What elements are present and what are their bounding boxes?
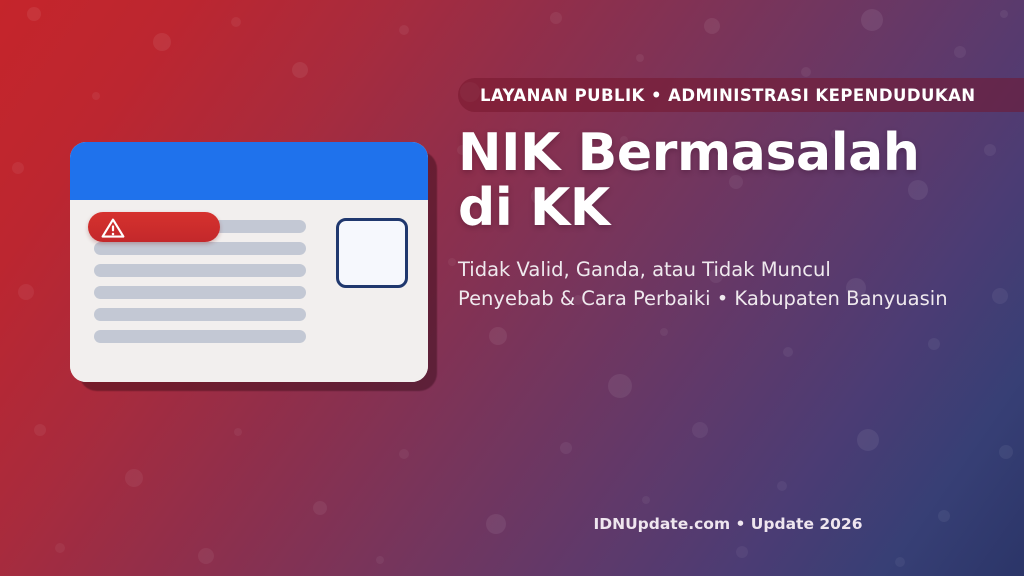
- background-dot: [954, 46, 966, 58]
- background-dot: [999, 445, 1013, 459]
- background-dot: [704, 18, 720, 34]
- eyebrow-badge: LAYANAN PUBLIK • ADMINISTRASI KEPENDUDUK…: [458, 78, 1024, 112]
- background-dot: [292, 62, 308, 78]
- subtitle: Tidak Valid, Ganda, atau Tidak Muncul Pe…: [458, 255, 1018, 313]
- banner-canvas: LAYANAN PUBLIK • ADMINISTRASI KEPENDUDUK…: [0, 0, 1024, 576]
- background-dot: [399, 449, 409, 459]
- background-dot: [448, 258, 456, 266]
- background-dot: [18, 284, 34, 300]
- background-dot: [777, 481, 787, 491]
- background-dot: [153, 33, 171, 51]
- background-dot: [55, 543, 65, 553]
- card-text-line: [94, 286, 306, 299]
- eyebrow-label: LAYANAN PUBLIK • ADMINISTRASI KEPENDUDUK…: [480, 86, 976, 105]
- photo-placeholder-box: [336, 218, 408, 288]
- headline-line-1: NIK Bermasalah: [458, 123, 919, 183]
- page-title: NIK Bermasalah di KK: [458, 126, 988, 236]
- background-dot: [560, 442, 572, 454]
- background-dot: [92, 92, 100, 100]
- background-dot: [231, 17, 241, 27]
- alert-badge: [88, 212, 220, 242]
- card-body: [70, 200, 428, 382]
- subtitle-line-2: Penyebab & Cara Perbaiki • Kabupaten Ban…: [458, 284, 1018, 313]
- background-dot: [399, 25, 409, 35]
- background-dot: [125, 469, 143, 487]
- background-dot: [234, 428, 242, 436]
- background-dot: [861, 9, 883, 31]
- warning-triangle-icon: [101, 218, 125, 238]
- card-text-line: [94, 264, 306, 277]
- card-text-line: [94, 330, 306, 343]
- background-dot: [801, 67, 811, 77]
- background-dot: [783, 347, 793, 357]
- kk-card-illustration: [70, 142, 428, 382]
- headline-line-2: di KK: [458, 181, 988, 236]
- background-dot: [313, 501, 327, 515]
- background-dot: [608, 374, 632, 398]
- footer-credit: IDNUpdate.com • Update 2026: [458, 515, 998, 533]
- subtitle-line-1: Tidak Valid, Ganda, atau Tidak Muncul: [458, 258, 831, 281]
- background-dot: [736, 546, 748, 558]
- background-dot: [34, 424, 46, 436]
- background-dot: [376, 556, 384, 564]
- card-header-band: [70, 142, 428, 200]
- background-dot: [692, 422, 708, 438]
- background-dot: [928, 338, 940, 350]
- background-dot: [198, 548, 214, 564]
- background-dot: [489, 327, 507, 345]
- card-text-line: [94, 308, 306, 321]
- card-text-line: [94, 242, 306, 255]
- background-dot: [27, 7, 41, 21]
- background-dot: [660, 328, 668, 336]
- background-dot: [550, 12, 562, 24]
- background-dot: [642, 496, 650, 504]
- background-dot: [12, 162, 24, 174]
- background-dot: [895, 557, 905, 567]
- kk-card: [70, 142, 428, 382]
- background-dot: [857, 429, 879, 451]
- background-dot: [636, 54, 644, 62]
- background-dot: [1000, 10, 1008, 18]
